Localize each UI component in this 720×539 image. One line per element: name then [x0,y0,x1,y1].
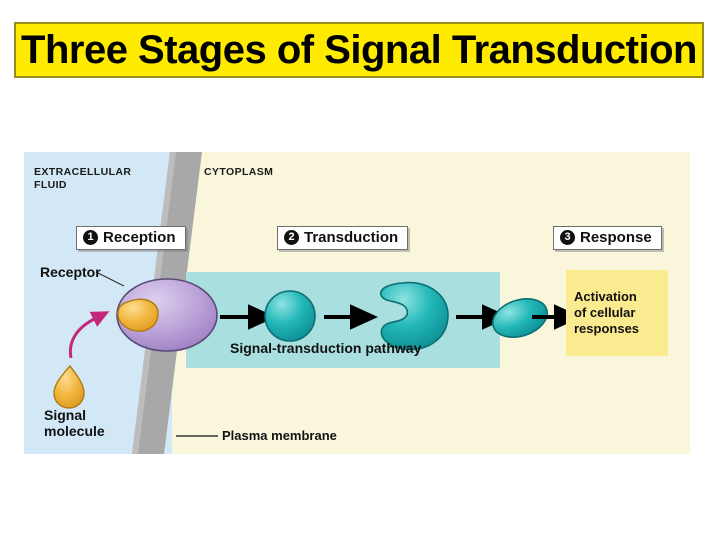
title-banner: Three Stages of Signal Transduction [14,22,704,78]
stage-number-2: 2 [284,230,299,245]
extracellular-fluid-label: EXTRACELLULAR FLUID [34,166,131,192]
receptor-annotation: Receptor [40,264,101,280]
page-title: Three Stages of Signal Transduction [21,30,697,70]
stage-number-3: 3 [560,230,575,245]
stage-label-reception: Reception [103,230,176,245]
stage-number-1: 1 [83,230,98,245]
cytoplasm-label: CYTOPLASM [204,166,273,179]
stage-label-response: Response [580,230,652,245]
signal-transduction-diagram: EXTRACELLULAR FLUID CYTOPLASM [24,152,690,454]
cellular-response-box: Activation of cellular responses [566,270,668,356]
plasma-membrane-annotation: Plasma membrane [222,429,337,444]
pathway-caption: Signal-transduction pathway [230,340,421,356]
stage-box-reception[interactable]: 1 Reception [76,226,186,250]
stage-box-transduction[interactable]: 2 Transduction [277,226,408,250]
signal-molecule-annotation: Signal molecule [44,407,105,439]
stage-box-response[interactable]: 3 Response [553,226,662,250]
cellular-response-text: Activation of cellular responses [574,289,639,338]
stage-label-transduction: Transduction [304,230,398,245]
